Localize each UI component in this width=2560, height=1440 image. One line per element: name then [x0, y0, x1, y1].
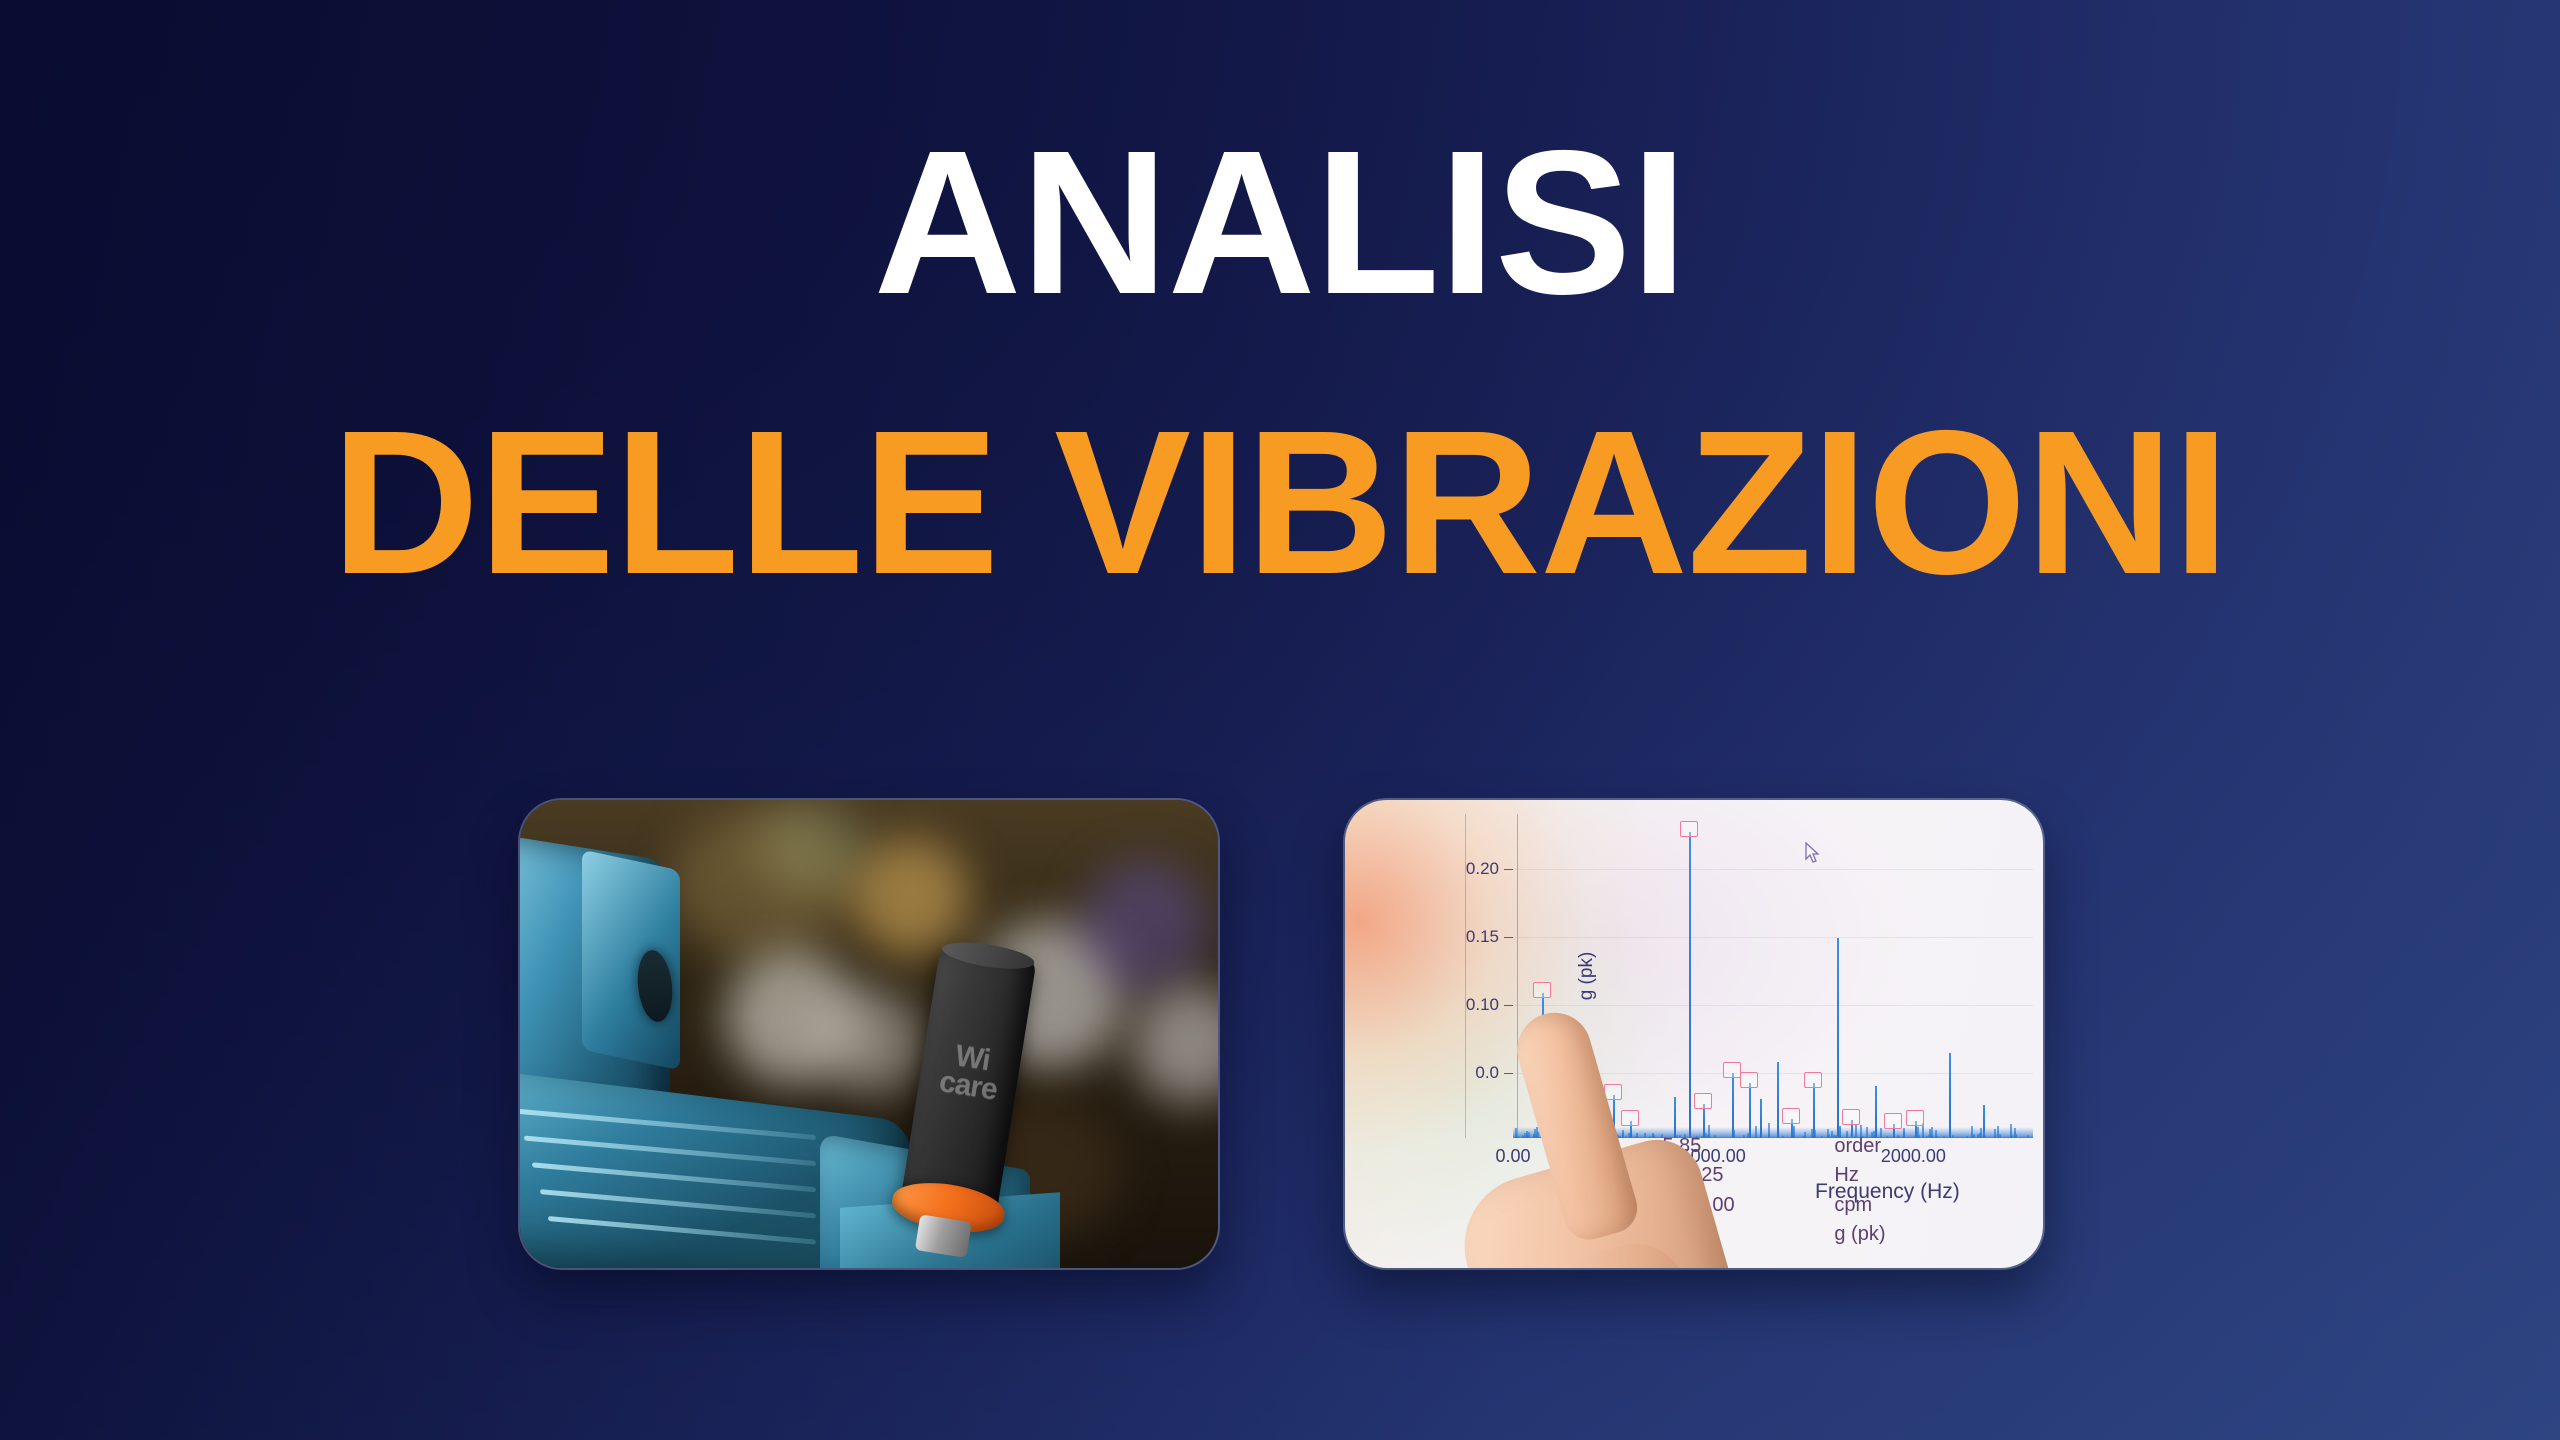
x-tick-label: 2000.00 — [1881, 1146, 1946, 1167]
page-title: ANALISI — [0, 120, 2560, 325]
y-axis-label: g (pk) — [1576, 952, 1598, 1001]
spectrum-noise-peak — [1935, 1130, 1937, 1138]
spectrum-noise-peak — [1898, 1136, 1900, 1138]
spectrum-noise-peak — [1966, 1136, 1968, 1138]
spectrum-noise-peak — [1980, 1136, 1982, 1138]
spectrum-peak — [1949, 1053, 1951, 1138]
grid-line — [1513, 869, 2033, 870]
sensor-logo-line2: care — [937, 1064, 999, 1106]
spectrum-noise-peak — [1903, 1128, 1905, 1138]
spectrum-peak — [1689, 832, 1691, 1138]
spectrum-screen-photo: 0.20 0.15 0.10 0.0 g (pk) 0.00 1000.00 2… — [1345, 800, 2043, 1268]
peak-marker — [1723, 1062, 1741, 1078]
machine-bracket-face — [582, 850, 680, 1071]
spectrum-peak — [1732, 1073, 1734, 1138]
sensor-photo: Wi care — [520, 800, 1218, 1268]
readout-unit: Hz — [1834, 1161, 1885, 1191]
spectrum-noise-peak — [1997, 1137, 1999, 1138]
spectrum-peak — [1837, 938, 1839, 1138]
bokeh-light — [820, 990, 925, 1095]
machine-fin — [524, 1135, 816, 1166]
peak-marker — [1694, 1093, 1712, 1109]
spectrum-noise-peak — [1886, 1136, 1888, 1138]
peak-marker — [1842, 1109, 1860, 1125]
spectrum-noise-peak — [2027, 1135, 2029, 1138]
bokeh-light — [670, 810, 850, 960]
peak-marker — [1533, 982, 1551, 998]
spectrum-screen-card[interactable]: 0.20 0.15 0.10 0.0 g (pk) 0.00 1000.00 2… — [1345, 800, 2043, 1268]
poster-canvas: ANALISI DELLE VIBRAZIONI — [0, 0, 2560, 1440]
spectrum-peak — [1875, 1086, 1877, 1138]
spectrum-noise-peak — [1983, 1131, 1985, 1138]
page-subtitle: DELLE VIBRAZIONI — [0, 400, 2560, 605]
machine-fin — [548, 1216, 816, 1245]
spectrum-noise-peak — [1952, 1135, 1954, 1138]
peak-marker — [1740, 1072, 1758, 1088]
sensor-photo-card[interactable]: Wi care — [520, 800, 1218, 1268]
bokeh-light — [850, 838, 970, 958]
spectrum-noise-peak — [1929, 1129, 1931, 1138]
readout-unit: order — [1834, 1132, 1885, 1162]
readout-unit: cpm — [1834, 1191, 1885, 1221]
spectrum-noise-peak — [1977, 1134, 1979, 1138]
spectrum-peak — [1749, 1083, 1751, 1138]
bokeh-light — [1080, 860, 1210, 990]
spectrum-noise-peak — [1971, 1126, 1973, 1138]
peak-marker — [1782, 1108, 1800, 1124]
spectrum-noise-peak — [1916, 1137, 1918, 1138]
spectrum-noise-peak — [1999, 1134, 2001, 1138]
peak-marker — [1680, 821, 1698, 837]
spectrum-noise-peak — [1943, 1136, 1945, 1138]
y-tick-label: 0.15 — [1466, 927, 1499, 947]
spectrum-noise-peak — [1931, 1127, 1933, 1138]
mouse-cursor-icon — [1805, 842, 1820, 863]
peak-marker — [1906, 1110, 1924, 1126]
machine-fin — [520, 1109, 816, 1140]
y-tick-label: 0.10 — [1466, 995, 1499, 1015]
spectrum-noise-peak — [2025, 1138, 2027, 1139]
spectrum-noise-peak — [2015, 1134, 2017, 1138]
readout-unit: g (pk) — [1834, 1220, 1885, 1250]
machine-fin — [532, 1162, 816, 1192]
spectrum-noise-peak — [2008, 1137, 2010, 1138]
spectrum-peak — [1777, 1062, 1779, 1138]
image-card-row: Wi care — [0, 800, 2560, 1270]
machine-fin — [540, 1189, 816, 1218]
peak-marker — [1884, 1113, 1902, 1129]
y-tick-label: 0.20 — [1466, 859, 1499, 879]
spectrum-noise-peak — [1957, 1137, 1959, 1138]
spectrum-noise-peak — [2010, 1124, 2012, 1138]
grid-line — [1513, 937, 2033, 938]
peak-marker — [1804, 1072, 1822, 1088]
